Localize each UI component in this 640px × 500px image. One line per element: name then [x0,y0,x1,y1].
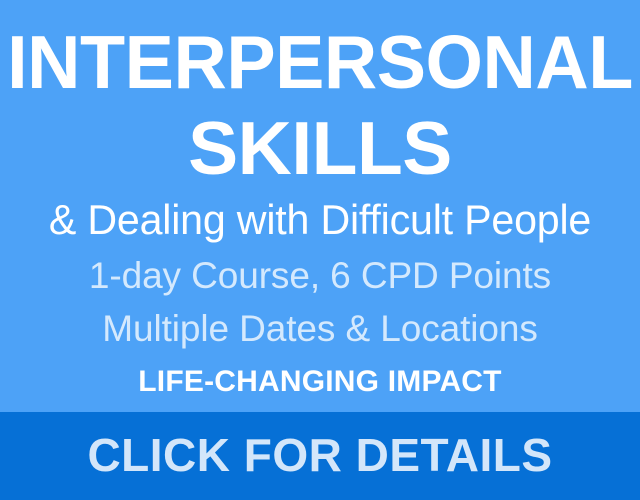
headline-line-2: SKILLS [0,112,640,184]
banner-detail-course-info: 1-day Course, 6 CPD Points [0,257,640,296]
headline-line-1: INTERPERSONAL [5,26,635,98]
banner-content: INTERPERSONAL SKILLS & Dealing with Diff… [0,0,640,412]
banner-detail-dates-locations: Multiple Dates & Locations [0,310,640,349]
click-for-details-button[interactable]: CLICK FOR DETAILS [0,412,640,500]
banner-subheadline: & Dealing with Difficult People [6,198,633,242]
banner-impact-statement: LIFE-CHANGING IMPACT [0,366,640,398]
advertisement-banner[interactable]: INTERPERSONAL SKILLS & Dealing with Diff… [0,0,640,500]
cta-button-label: CLICK FOR DETAILS [87,432,552,478]
